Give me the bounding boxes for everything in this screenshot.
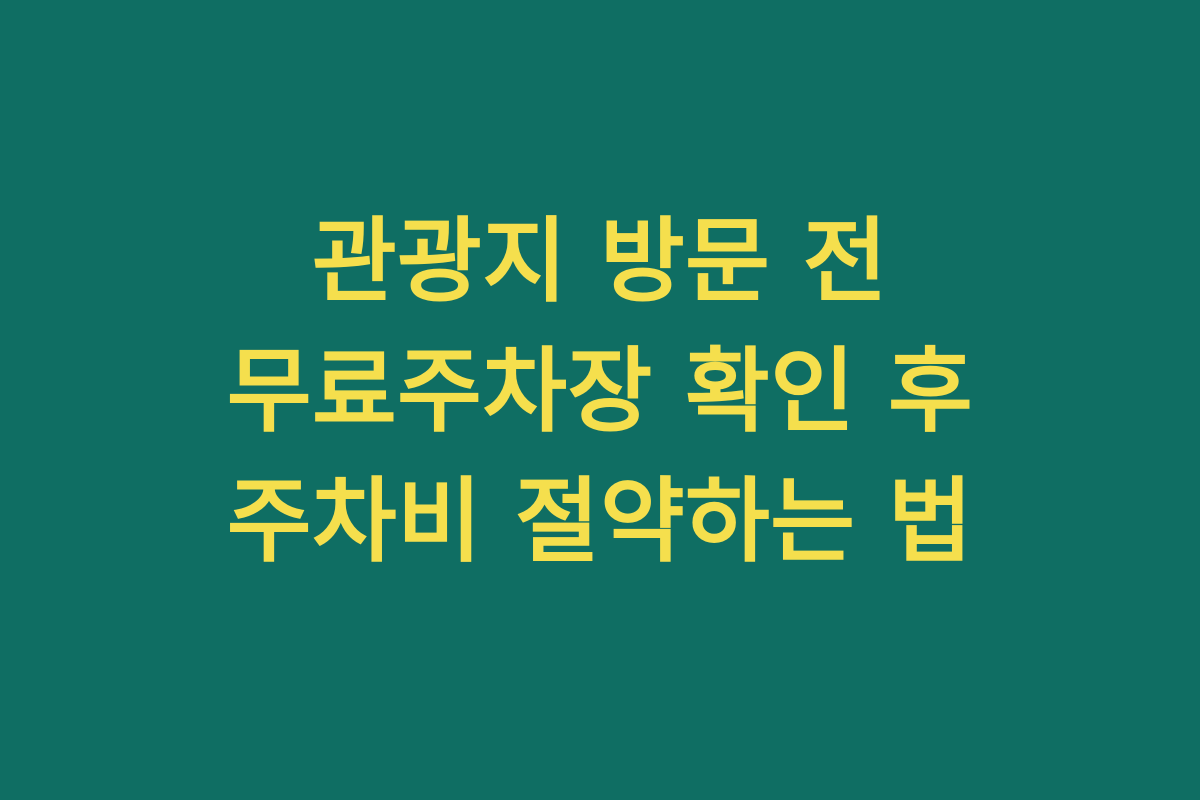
- banner-canvas: 관광지 방문 전 무료주차장 확인 후 주차비 절약하는 법: [0, 0, 1200, 800]
- page-title: 관광지 방문 전 무료주차장 확인 후 주차비 절약하는 법: [120, 197, 1080, 587]
